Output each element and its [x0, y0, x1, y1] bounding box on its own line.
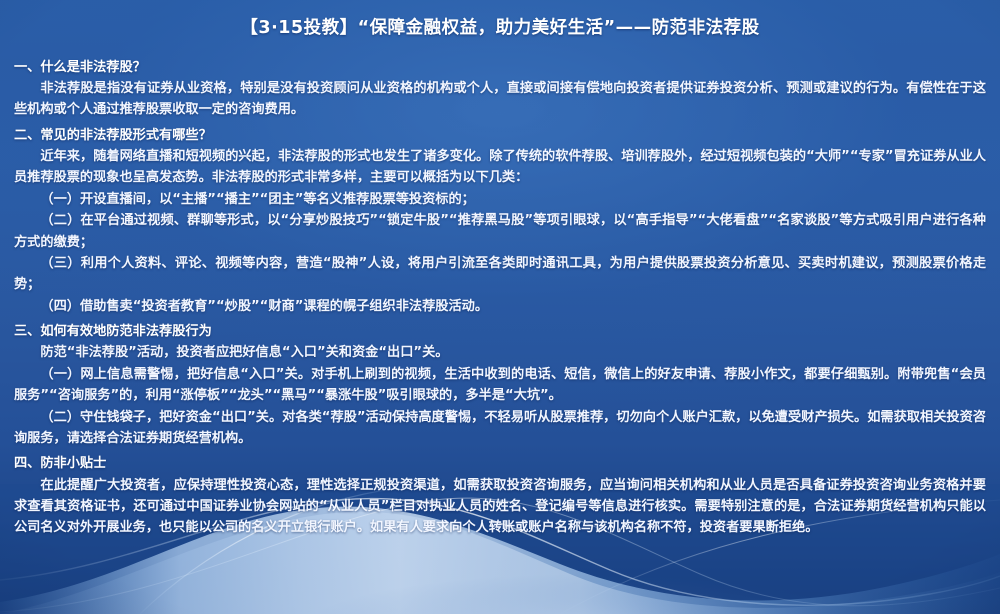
page-title: 【3·15投教】“保障金融权益，助力美好生活”——防范非法荐股	[0, 0, 1000, 49]
section-heading: 三、如何有效地防范非法荐股行为	[14, 321, 986, 342]
section-paragraph: （一）开设直播间，以“主播”“播主”“团主”等名义推荐股票等投资标的；	[14, 189, 986, 210]
section-heading: 四、防非小贴士	[14, 453, 986, 474]
section-paragraph: （三）利用个人资料、评论、视频等内容，营造“股神”人设，将用户引流至各类即时通讯…	[14, 253, 986, 296]
section-paragraph: 防范“非法荐股”活动，投资者应把好信息“入口”关和资金“出口”关。	[14, 342, 986, 363]
poster-root: 【3·15投教】“保障金融权益，助力美好生活”——防范非法荐股 一、什么是非法荐…	[0, 0, 1000, 614]
section-paragraph: 在此提醒广大投资者，应保持理性投资心态，理性选择正规投资渠道，如需获取投资咨询服…	[14, 475, 986, 539]
section-paragraph: （四）借助售卖“投资者教育”“炒股”“财商”课程的幌子组织非法荐股活动。	[14, 296, 986, 317]
section-paragraph: 非法荐股是指没有证券从业资格，特别是没有投资顾问从业资格的机构或个人，直接或间接…	[14, 78, 986, 121]
section-paragraph: （一）网上信息需警惕，把好信息“入口”关。对手机上刷到的视频，生活中收到的电话、…	[14, 364, 986, 407]
section-heading: 一、什么是非法荐股？	[14, 57, 986, 78]
section-paragraph: （二）在平台通过视频、群聊等形式，以“分享炒股技巧”“锁定牛股”“推荐黑马股”等…	[14, 210, 986, 253]
section-heading: 二、常见的非法荐股形式有哪些？	[14, 125, 986, 146]
article-body: 一、什么是非法荐股？ 非法荐股是指没有证券从业资格，特别是没有投资顾问从业资格的…	[0, 49, 1000, 539]
poster-content: 【3·15投教】“保障金融权益，助力美好生活”——防范非法荐股 一、什么是非法荐…	[0, 0, 1000, 539]
section-paragraph: 近年来，随着网络直播和短视频的兴起，非法荐股的形式也发生了诸多变化。除了传统的软…	[14, 146, 986, 189]
section-paragraph: （二）守住钱袋子，把好资金“出口”关。对各类“荐股”活动保持高度警惕，不轻易听从…	[14, 407, 986, 450]
